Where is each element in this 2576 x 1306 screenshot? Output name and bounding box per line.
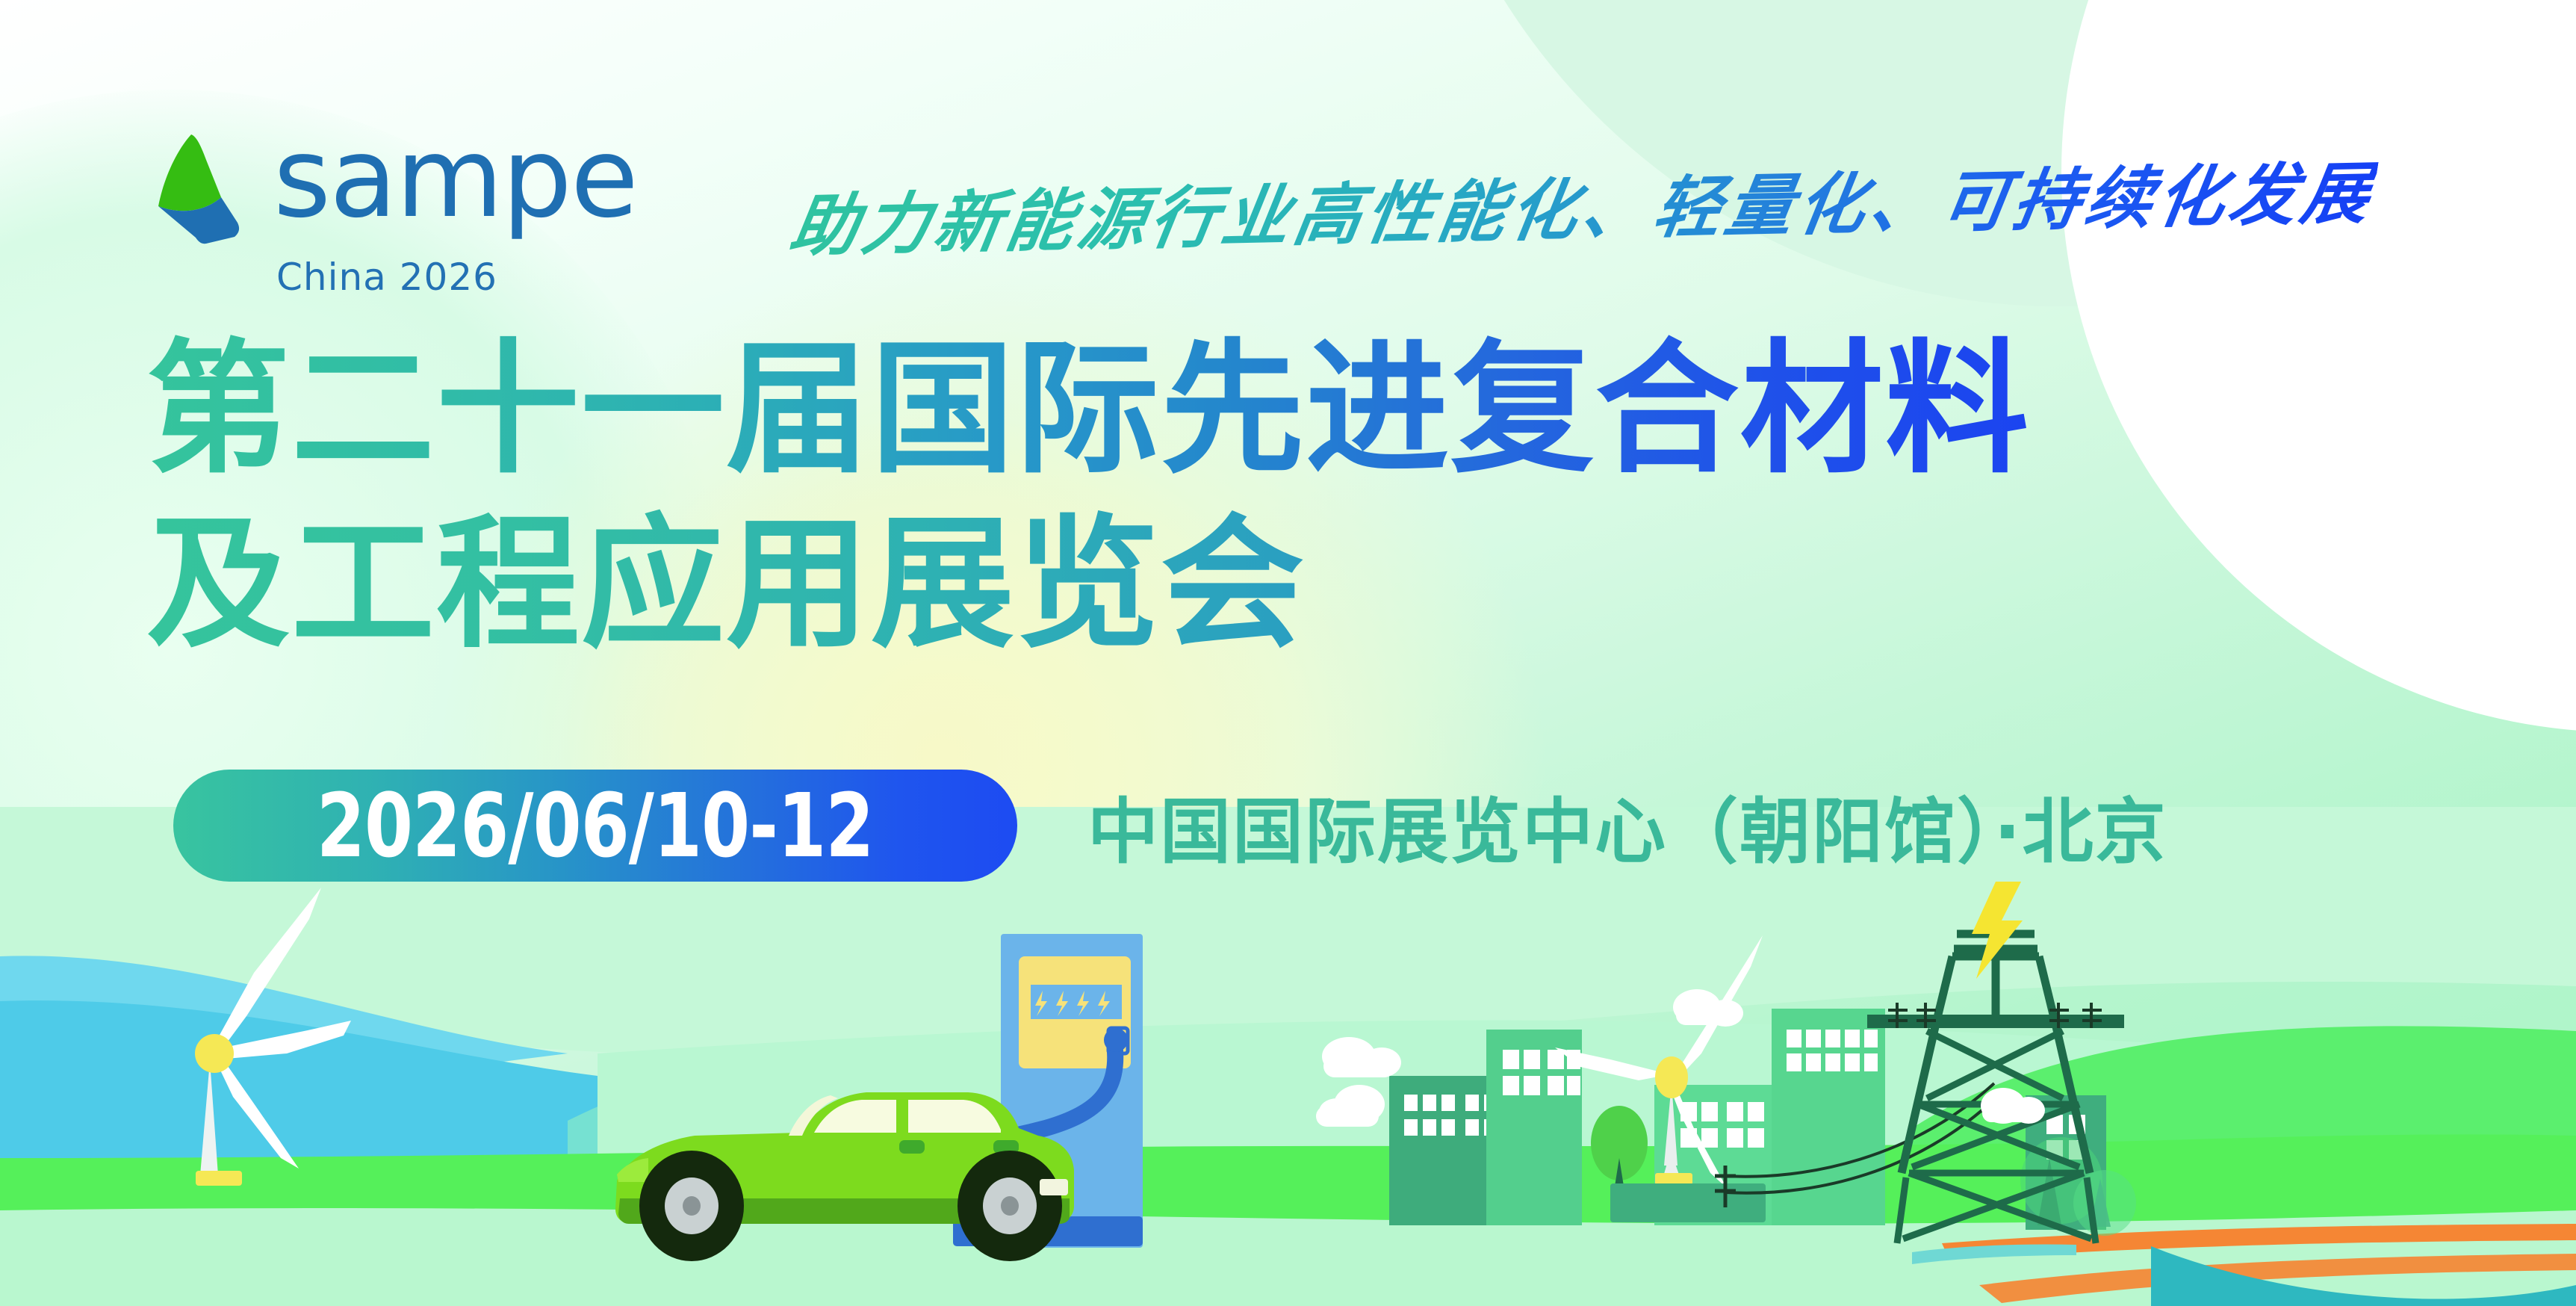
tree-right-b [2073, 1170, 2136, 1236]
sampe-logo[interactable]: sampe China 2026 [146, 126, 637, 299]
event-poster: sampe China 2026 助力新能源行业高性能化、轻量化、可持续化发展 … [0, 0, 2576, 1306]
scene-svg [0, 807, 2576, 1306]
event-venue-text: 中国国际展览中心（朝阳馆）·北京 [1087, 775, 2167, 877]
illustration-scene [0, 807, 2576, 1306]
sampe-logo-subtitle: China 2026 [276, 256, 637, 299]
event-date-badge: 2026/06/10-12 [173, 770, 1017, 882]
car-taillight [1040, 1179, 1068, 1195]
sampe-leaf-diamond-logo-icon [146, 133, 251, 245]
event-title-line-2: 及工程应用展览会 [146, 498, 2030, 672]
event-date-text: 2026/06/10-12 [317, 774, 874, 877]
event-title-line-1: 第二十一届国际先进复合材料 [146, 323, 2030, 498]
event-info-row: 2026/06/10-12 中国国际展览中心（朝阳馆）·北京 [173, 770, 2167, 882]
turbine-platform [1610, 1183, 1766, 1222]
sampe-wordmark: sampe [273, 126, 637, 231]
turbine-hub-left [195, 1034, 234, 1073]
car-handle-front [899, 1140, 925, 1154]
turbine-hub-right [1655, 1056, 1688, 1098]
event-title: 第二十一届国际先进复合材料 及工程应用展览会 [146, 323, 2030, 672]
turbine-base-left [196, 1171, 242, 1186]
